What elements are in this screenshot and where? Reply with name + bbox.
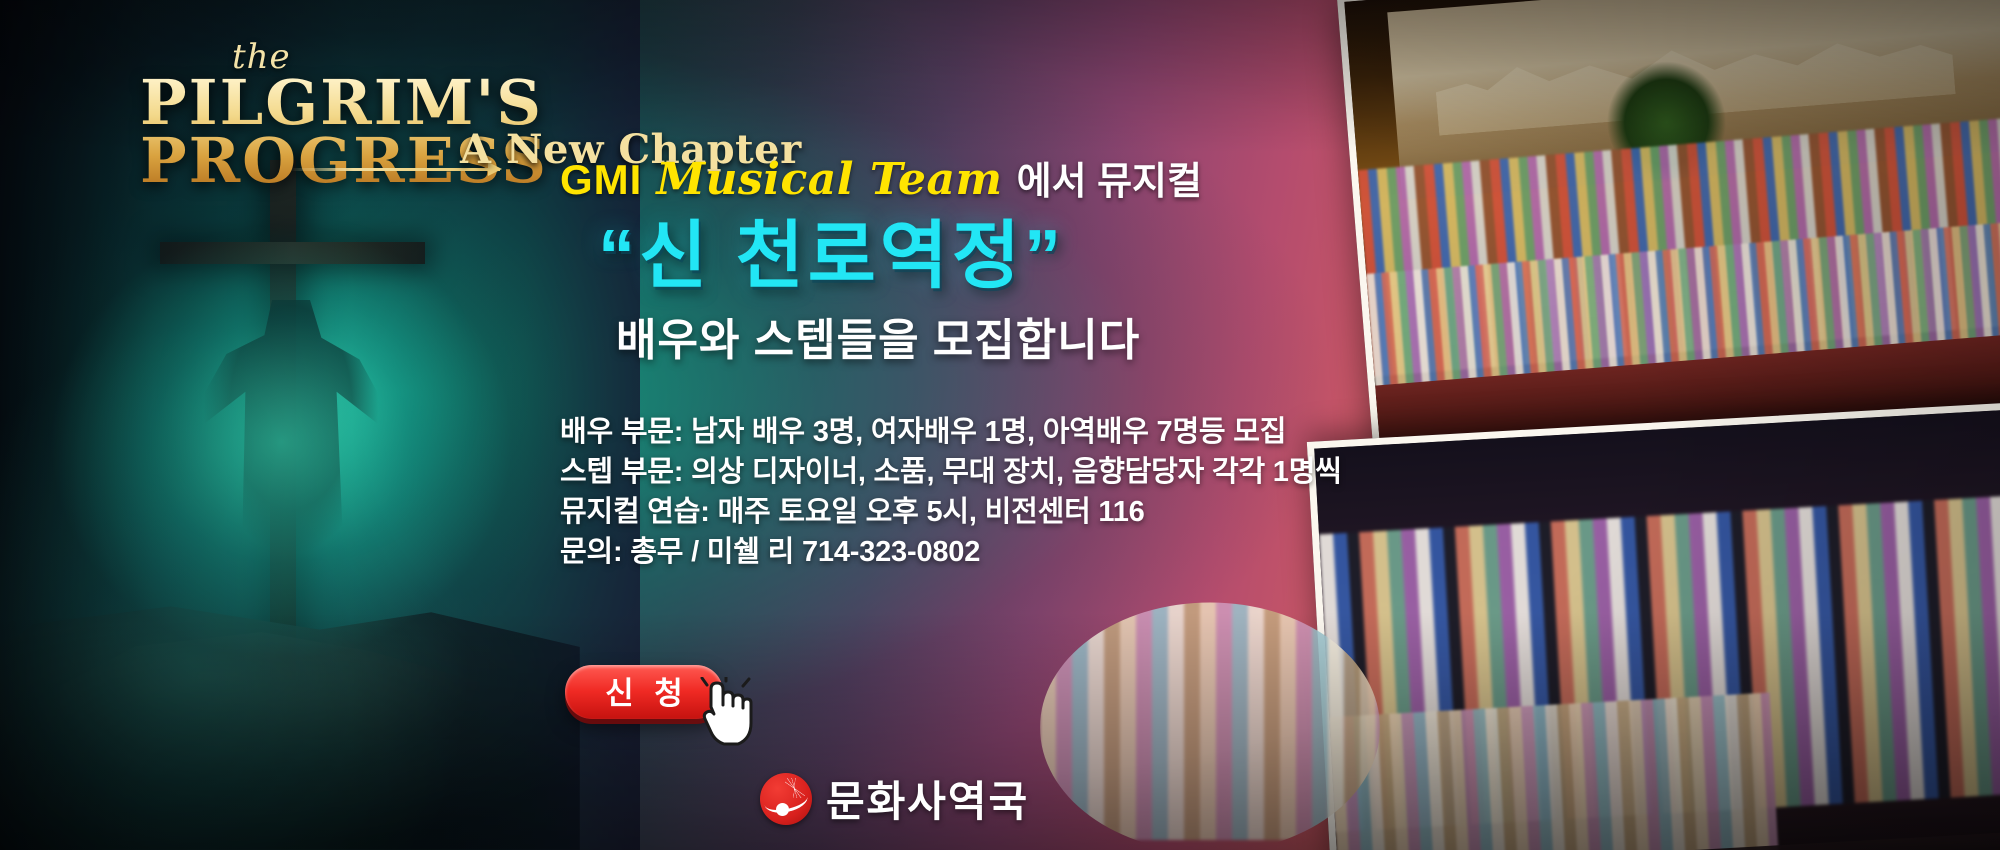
org-logo-name: 문화사역국 bbox=[826, 768, 1029, 829]
detail-line-actors: 배우 부문: 남자 배우 3명, 여자배우 1명, 아역배우 7명등 모집 bbox=[560, 412, 1260, 452]
musical-team-script: Musical Team bbox=[656, 154, 1002, 205]
headline-team-line: GMI Musical Team 에서 뮤지컬 bbox=[560, 150, 1260, 205]
promo-banner: the PILGRIM'S PROGRESS A New Chapter GMI… bbox=[0, 0, 2000, 850]
apply-area: 신 청 bbox=[565, 665, 825, 735]
org-logo: 문화사역국 bbox=[760, 768, 1029, 829]
gmi-wordmark: GMI bbox=[560, 156, 642, 204]
headline-tail-text: 에서 뮤지컬 bbox=[1017, 150, 1202, 205]
detail-line-rehearsal: 뮤지컬 연습: 매주 토요일 오후 5시, 비전센터 116 bbox=[560, 492, 1260, 532]
detail-list: 배우 부문: 남자 배우 3명, 여자배우 1명, 아역배우 7명등 모집 스텝… bbox=[560, 412, 1260, 572]
recruit-subtitle: 배우와 스텝들을 모집합니다 bbox=[616, 304, 1260, 368]
show-title-korean: “신 천로역정” bbox=[598, 215, 1260, 298]
apply-button[interactable]: 신 청 bbox=[565, 665, 723, 719]
org-logo-dot-icon bbox=[776, 803, 789, 816]
detail-line-contact: 문의: 총무 / 미쉘 리 714-323-0802 bbox=[560, 532, 1260, 572]
org-logo-mark-icon bbox=[760, 773, 812, 825]
detail-line-staff: 스텝 부문: 의상 디자이너, 소품, 무대 장치, 음향담당자 각각 1명씩 bbox=[560, 452, 1260, 492]
center-content: GMI Musical Team 에서 뮤지컬 “신 천로역정” 배우와 스텝들… bbox=[560, 150, 1260, 572]
